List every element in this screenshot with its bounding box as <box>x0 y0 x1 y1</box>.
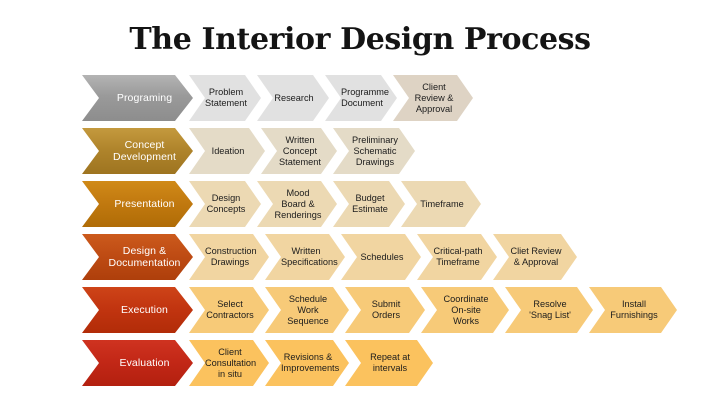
step-label: Construction Drawings <box>189 246 269 268</box>
step-label: Ideation <box>189 146 265 157</box>
step-chevron[interactable]: Construction Drawings <box>189 234 269 280</box>
process-row: Design & DocumentationConstruction Drawi… <box>82 234 577 280</box>
step-chevron[interactable]: Problem Statement <box>189 75 261 121</box>
step-label: Preliminary Schematic Drawings <box>333 135 415 168</box>
step-label: Critical-path Timeframe <box>417 246 497 268</box>
slide-canvas: The Interior Design Process ProgramingPr… <box>0 0 720 405</box>
step-label: Research <box>257 93 329 104</box>
step-label: Install Furnishings <box>589 299 677 321</box>
step-chevron[interactable]: Install Furnishings <box>589 287 677 333</box>
step-label: Programme Document <box>325 87 397 109</box>
phase-label: Execution <box>99 304 191 317</box>
phase-label: Design & Documentation <box>99 245 191 270</box>
step-label: Repeat at intervals <box>345 352 433 374</box>
step-label: Schedule Work Sequence <box>265 294 349 327</box>
step-chevron[interactable]: Cliet Review & Approval <box>493 234 577 280</box>
step-label: Client Consultation in situ <box>189 347 269 380</box>
step-chevron[interactable]: Written Concept Statement <box>261 128 337 174</box>
step-chevron[interactable]: Design Concepts <box>189 181 261 227</box>
step-label: Submit Orders <box>345 299 425 321</box>
step-chevron[interactable]: Schedule Work Sequence <box>265 287 349 333</box>
process-row: EvaluationClient Consultation in situRev… <box>82 340 433 386</box>
step-label: Budget Estimate <box>333 193 405 215</box>
step-chevron[interactable]: Preliminary Schematic Drawings <box>333 128 415 174</box>
step-chevron[interactable]: Coordinate On-site Works <box>421 287 509 333</box>
step-chevron[interactable]: Resolve 'Snag List' <box>505 287 593 333</box>
phase-chevron[interactable]: Evaluation <box>82 340 193 386</box>
phase-chevron[interactable]: Design & Documentation <box>82 234 193 280</box>
step-chevron[interactable]: Schedules <box>341 234 421 280</box>
phase-chevron[interactable]: Programing <box>82 75 193 121</box>
step-chevron[interactable]: Mood Board & Renderings <box>257 181 337 227</box>
step-label: Select Contractors <box>189 299 269 321</box>
step-label: Client Review & Approval <box>393 82 473 115</box>
phase-label: Evaluation <box>99 357 191 370</box>
step-label: Coordinate On-site Works <box>421 294 509 327</box>
phase-chevron[interactable]: Execution <box>82 287 193 333</box>
step-chevron[interactable]: Budget Estimate <box>333 181 405 227</box>
step-chevron[interactable]: Revisions & Improvements <box>265 340 349 386</box>
step-label: Mood Board & Renderings <box>257 188 337 221</box>
step-chevron[interactable]: Repeat at intervals <box>345 340 433 386</box>
phase-chevron[interactable]: Presentation <box>82 181 193 227</box>
step-label: Revisions & Improvements <box>265 352 349 374</box>
step-label: Design Concepts <box>189 193 261 215</box>
process-row: ExecutionSelect ContractorsSchedule Work… <box>82 287 677 333</box>
step-label: Schedules <box>341 252 421 263</box>
step-chevron[interactable]: Written Specifications <box>265 234 345 280</box>
step-label: Cliet Review & Approval <box>493 246 577 268</box>
phase-label: Concept Development <box>99 139 191 164</box>
page-title: The Interior Design Process <box>0 22 720 57</box>
step-label: Problem Statement <box>189 87 261 109</box>
step-label: Written Concept Statement <box>261 135 337 168</box>
process-row: Concept DevelopmentIdeationWritten Conce… <box>82 128 415 174</box>
phase-label: Programing <box>99 92 191 105</box>
process-row: ProgramingProblem StatementResearchProgr… <box>82 75 473 121</box>
phase-label: Presentation <box>99 198 191 211</box>
step-chevron[interactable]: Research <box>257 75 329 121</box>
step-chevron[interactable]: Client Consultation in situ <box>189 340 269 386</box>
step-chevron[interactable]: Client Review & Approval <box>393 75 473 121</box>
step-label: Timeframe <box>401 199 481 210</box>
step-label: Resolve 'Snag List' <box>505 299 593 321</box>
step-chevron[interactable]: Select Contractors <box>189 287 269 333</box>
step-chevron[interactable]: Ideation <box>189 128 265 174</box>
phase-chevron[interactable]: Concept Development <box>82 128 193 174</box>
step-label: Written Specifications <box>265 246 345 268</box>
step-chevron[interactable]: Programme Document <box>325 75 397 121</box>
step-chevron[interactable]: Submit Orders <box>345 287 425 333</box>
step-chevron[interactable]: Critical-path Timeframe <box>417 234 497 280</box>
step-chevron[interactable]: Timeframe <box>401 181 481 227</box>
process-row: PresentationDesign ConceptsMood Board & … <box>82 181 481 227</box>
